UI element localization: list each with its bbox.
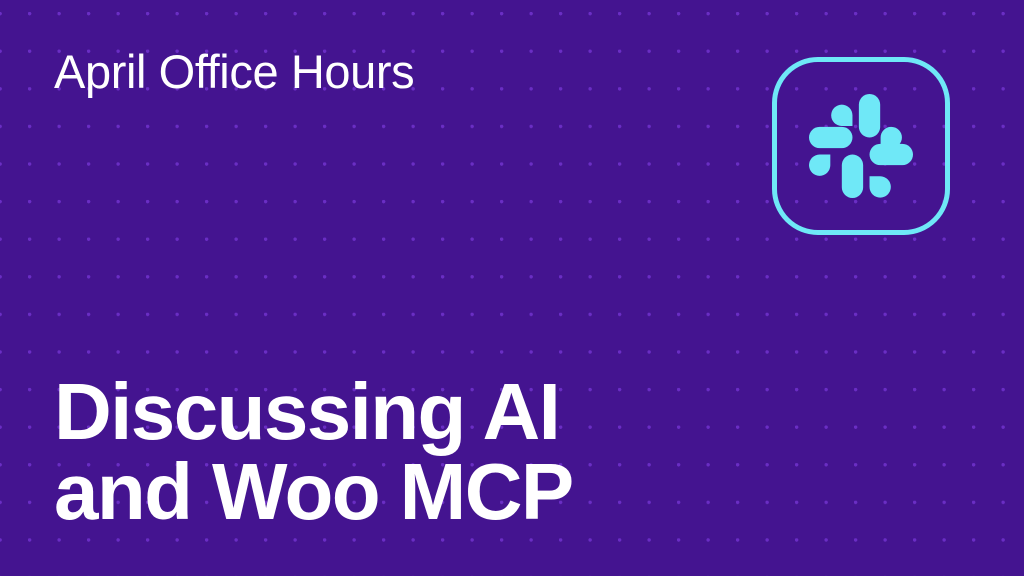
page-title: Discussing AI and Woo MCP [54, 372, 573, 532]
headline-line-1: Discussing AI [54, 372, 573, 452]
slide-eyebrow-title: April Office Hours [54, 48, 414, 95]
slack-logo-icon [809, 94, 913, 198]
slack-logo-badge [772, 57, 950, 235]
presentation-slide: April Office Hours [0, 0, 1024, 576]
headline-line-2: and Woo MCP [54, 452, 573, 532]
